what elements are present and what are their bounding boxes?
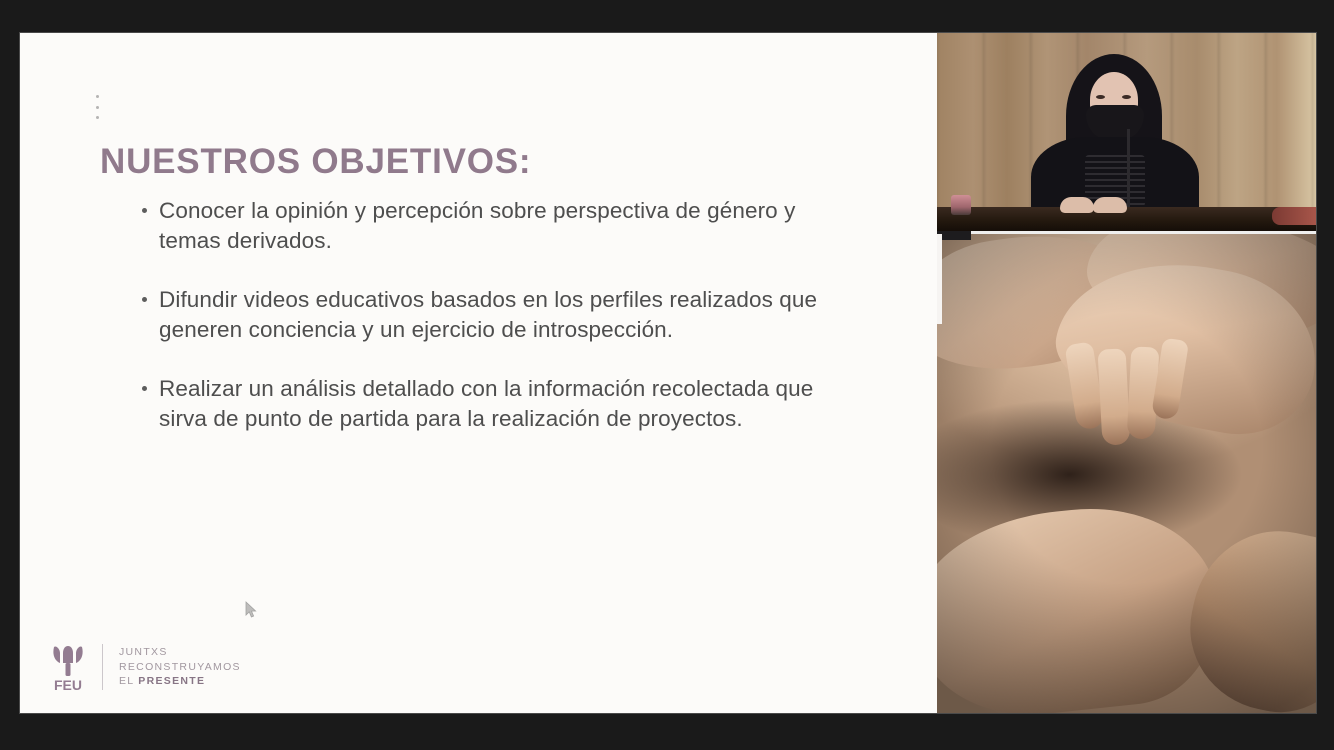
- table-object: [951, 195, 971, 215]
- svg-text:FEU: FEU: [54, 677, 82, 693]
- speaker-eye-left: [1096, 95, 1105, 99]
- feu-logo-lockup: FEU JUNTXS RECONSTRUYAMOS EL PRESENTE: [47, 641, 241, 693]
- tagline-line-2: RECONSTRUYAMOS: [119, 660, 241, 675]
- feu-tagline: JUNTXS RECONSTRUYAMOS EL PRESENTE: [119, 645, 241, 689]
- vertical-ellipsis-icon[interactable]: [90, 95, 104, 119]
- panel-seam: [937, 231, 1316, 234]
- tagline-line-3-normal: EL: [119, 675, 138, 687]
- screen-root: NUESTROS OBJETIVOS: Conocer la opinión y…: [0, 0, 1334, 750]
- speaker-hand-right: [1093, 197, 1127, 213]
- tagline-line-1: JUNTXS: [119, 645, 241, 660]
- panel-seam-stub: [937, 231, 971, 240]
- video-tile-shared-screen[interactable]: [937, 231, 1316, 713]
- ellipsis-dot: [96, 106, 99, 109]
- table-object-right: [1272, 207, 1316, 225]
- speaker-eye-right: [1122, 95, 1131, 99]
- speaker-hand-left: [1060, 197, 1094, 213]
- presentation-stage: NUESTROS OBJETIVOS: Conocer la opinión y…: [20, 33, 1316, 713]
- ellipsis-dot: [96, 116, 99, 119]
- tagline-line-3-emph: PRESENTE: [138, 675, 205, 687]
- microphone-stand: [1127, 129, 1130, 211]
- slide-canvas: NUESTROS OBJETIVOS: Conocer la opinión y…: [20, 33, 937, 713]
- bullet-item: Conocer la opinión y percepción sobre pe…: [138, 196, 838, 255]
- ellipsis-dot: [96, 95, 99, 98]
- bullet-item: Realizar un análisis detallado con la in…: [138, 374, 838, 433]
- photo-vignette: [937, 231, 1316, 713]
- speaker-desk: [937, 207, 1316, 231]
- mouse-pointer-icon: [245, 601, 257, 619]
- bullet-item: Difundir videos educativos basados en lo…: [138, 285, 838, 344]
- panel-left-strip: [937, 234, 942, 324]
- tagline-line-3: EL PRESENTE: [119, 674, 241, 689]
- slide-title: NUESTROS OBJETIVOS:: [100, 142, 531, 182]
- logo-divider: [102, 644, 103, 690]
- feu-logo-icon: FEU: [47, 641, 89, 693]
- video-panel-column: [937, 33, 1316, 713]
- video-tile-speaker[interactable]: [937, 33, 1316, 231]
- slide-bullet-list: Conocer la opinión y percepción sobre pe…: [138, 196, 838, 463]
